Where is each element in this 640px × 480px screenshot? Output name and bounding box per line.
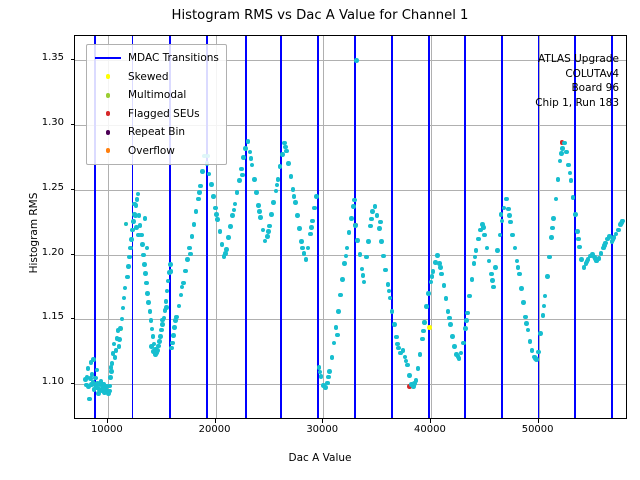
data-point	[602, 243, 607, 248]
data-point	[519, 286, 524, 291]
data-point	[220, 242, 225, 247]
data-point	[153, 352, 158, 357]
data-point	[526, 328, 531, 333]
data-point	[383, 268, 388, 273]
data-point	[616, 228, 621, 233]
data-point	[117, 344, 122, 349]
x-tick-label: 40000	[395, 424, 465, 435]
data-point	[241, 155, 246, 160]
data-point	[444, 296, 449, 301]
legend-item-skewed: Skewed	[92, 68, 219, 87]
data-point	[345, 246, 350, 251]
data-point	[521, 300, 526, 305]
data-point	[431, 269, 436, 274]
data-point	[369, 217, 374, 222]
legend-item-label: Flagged SEUs	[124, 108, 200, 120]
data-point	[368, 224, 373, 229]
legend-line-swatch-icon	[92, 57, 124, 59]
data-point	[513, 246, 518, 251]
data-point	[164, 299, 169, 304]
data-point	[173, 318, 178, 323]
data-point	[91, 357, 96, 362]
data-point	[160, 318, 165, 323]
data-point	[209, 182, 214, 187]
mdac-transition-line	[245, 36, 247, 418]
data-point	[401, 348, 406, 353]
data-point	[435, 253, 440, 258]
gridline-y	[75, 319, 626, 320]
data-point	[113, 355, 118, 360]
data-point	[330, 355, 335, 360]
x-tick	[107, 419, 108, 423]
data-point	[361, 273, 366, 278]
data-point	[177, 304, 182, 309]
mdac-transition-line	[280, 36, 282, 418]
data-point	[375, 213, 380, 218]
legend-dot-swatch-icon	[92, 74, 124, 79]
x-tick	[322, 419, 323, 423]
data-point	[366, 239, 371, 244]
gridline-y	[75, 384, 626, 385]
data-point	[215, 217, 220, 222]
data-point	[160, 322, 165, 327]
data-point	[515, 259, 520, 264]
data-point	[614, 232, 619, 237]
data-point	[438, 265, 443, 270]
data-point	[275, 183, 280, 188]
data-point	[344, 254, 349, 259]
data-point	[506, 207, 511, 212]
data-point	[237, 178, 242, 183]
data-point	[386, 282, 391, 287]
data-point	[547, 255, 552, 260]
data-point	[524, 321, 529, 326]
swatch	[106, 74, 111, 79]
data-point	[430, 274, 435, 279]
data-point	[254, 190, 259, 195]
y-tick	[71, 254, 75, 255]
data-point	[132, 202, 137, 207]
data-point	[280, 152, 285, 157]
data-point	[439, 272, 444, 277]
data-point	[481, 225, 486, 230]
data-point	[300, 246, 305, 251]
data-point	[286, 161, 291, 166]
data-point	[263, 239, 268, 244]
data-point	[558, 159, 563, 164]
data-point	[562, 141, 567, 146]
data-point	[213, 206, 218, 211]
x-tick-label: 10000	[72, 424, 142, 435]
mdac-transition-line	[464, 36, 466, 418]
data-point	[416, 366, 421, 371]
data-point	[112, 342, 117, 347]
data-point	[150, 327, 155, 332]
legend-item-flagged-seus: Flagged SEUs	[92, 105, 219, 124]
data-point	[87, 397, 92, 402]
data-point	[261, 228, 266, 233]
legend-item-multimodal: Multimodal	[92, 86, 219, 105]
data-point	[390, 309, 395, 314]
data-point	[95, 368, 100, 373]
data-point	[482, 233, 487, 238]
data-point	[291, 187, 296, 192]
legend-dot-swatch-icon	[92, 111, 124, 116]
data-point	[200, 169, 205, 174]
data-point	[335, 333, 340, 338]
data-point	[508, 220, 513, 225]
data-point	[109, 365, 114, 370]
data-point	[207, 172, 212, 177]
data-point	[117, 337, 122, 342]
data-point	[407, 373, 412, 378]
data-point	[536, 350, 541, 355]
data-point	[187, 246, 192, 251]
data-point	[473, 255, 478, 260]
legend-dot-swatch-icon	[92, 148, 124, 153]
data-point	[136, 192, 141, 197]
data-point	[271, 200, 276, 205]
data-point	[257, 209, 262, 214]
data-point	[576, 237, 581, 242]
data-point	[442, 283, 447, 288]
data-point	[381, 254, 386, 259]
data-point	[470, 277, 475, 282]
data-point	[198, 184, 203, 189]
data-point	[504, 197, 509, 202]
data-point	[446, 309, 451, 314]
data-point	[340, 277, 345, 282]
data-point	[230, 213, 235, 218]
x-tick	[538, 419, 539, 423]
data-point	[573, 212, 578, 217]
data-point	[491, 285, 496, 290]
data-point	[353, 223, 358, 228]
swatch	[95, 57, 121, 59]
data-point	[107, 389, 112, 394]
data-point	[569, 178, 574, 183]
data-point	[541, 313, 546, 318]
data-point	[243, 146, 248, 151]
data-point	[327, 369, 332, 374]
data-point	[146, 300, 151, 305]
data-point	[197, 190, 202, 195]
data-point	[265, 234, 270, 239]
data-point	[306, 246, 311, 251]
y-tick-label: 1.35	[0, 52, 64, 63]
data-point	[122, 296, 127, 301]
data-point	[456, 354, 461, 359]
run-annotation: ATLAS UpgradeCOLUTAv4Board 96Chip 1, Run…	[535, 52, 619, 110]
data-point	[125, 275, 130, 280]
data-point	[148, 309, 153, 314]
data-point	[312, 206, 317, 211]
data-point	[145, 246, 150, 251]
data-point	[308, 232, 313, 237]
data-point	[461, 341, 466, 346]
data-point	[542, 304, 547, 309]
data-point	[360, 267, 365, 272]
data-point	[551, 216, 556, 221]
data-point	[362, 280, 367, 285]
data-point	[149, 318, 154, 323]
data-point	[500, 219, 505, 224]
data-point	[131, 219, 136, 224]
data-point	[211, 194, 216, 199]
data-point	[378, 220, 383, 225]
legend-item-label: Skewed	[124, 71, 169, 83]
annotation-line: COLUTAv4	[535, 67, 619, 82]
data-point	[516, 265, 521, 270]
data-point	[487, 259, 492, 264]
data-point	[358, 252, 363, 257]
legend-item-label: MDAC Transitions	[124, 52, 219, 64]
data-point	[214, 212, 219, 217]
data-point	[141, 253, 146, 258]
swatch	[106, 148, 111, 153]
data-point	[421, 329, 426, 334]
data-point	[93, 376, 98, 381]
data-point	[170, 341, 175, 346]
data-point	[156, 344, 161, 349]
data-point	[127, 255, 132, 260]
legend: MDAC TransitionsSkewedMultimodalFlagged …	[86, 44, 227, 165]
mdac-transition-line	[428, 36, 430, 418]
data-point	[192, 222, 197, 227]
data-point	[283, 145, 288, 150]
data-point	[228, 224, 233, 229]
data-point	[129, 237, 134, 242]
data-point	[169, 269, 174, 274]
data-point	[528, 339, 533, 344]
data-point	[118, 326, 123, 331]
data-point	[256, 203, 261, 208]
data-point	[545, 274, 550, 279]
annotation-line: Chip 1, Run 183	[535, 96, 619, 111]
data-point	[143, 271, 148, 276]
data-point	[172, 325, 177, 330]
data-point	[465, 311, 470, 316]
data-point	[412, 381, 417, 386]
data-point	[171, 333, 176, 338]
data-point	[310, 219, 315, 224]
legend-item-label: Multimodal	[124, 89, 186, 101]
data-point	[424, 304, 429, 309]
x-tick-label: 30000	[287, 424, 357, 435]
data-point	[126, 264, 131, 269]
data-point	[354, 58, 359, 63]
data-point	[128, 246, 133, 251]
data-point	[136, 233, 141, 238]
data-point	[530, 348, 535, 353]
data-point	[249, 156, 254, 161]
data-point	[151, 334, 156, 339]
data-point	[194, 209, 199, 214]
data-point	[278, 164, 283, 169]
gridline-x	[323, 36, 324, 418]
data-point	[405, 363, 410, 368]
data-point	[556, 177, 561, 182]
data-point	[426, 291, 431, 296]
data-point	[577, 245, 582, 250]
data-point	[336, 309, 341, 314]
y-tick	[71, 124, 75, 125]
data-point	[158, 334, 163, 339]
data-point	[292, 194, 297, 199]
data-point	[559, 151, 564, 156]
data-point	[183, 269, 188, 274]
data-point	[120, 317, 125, 322]
data-point	[474, 248, 479, 253]
x-tick-label: 20000	[180, 424, 250, 435]
data-point	[86, 366, 91, 371]
data-point	[373, 204, 378, 209]
data-point	[476, 237, 481, 242]
data-point	[364, 255, 369, 260]
legend-item-overflow: Overflow	[92, 142, 219, 161]
data-point	[533, 356, 538, 361]
data-point	[180, 285, 185, 290]
data-point	[464, 318, 469, 323]
data-point	[554, 197, 559, 202]
data-point	[571, 195, 576, 200]
data-point	[248, 150, 253, 155]
legend-item-label: Overflow	[124, 145, 175, 157]
data-point	[190, 234, 195, 239]
data-point	[352, 198, 357, 203]
data-point	[233, 202, 238, 207]
data-point	[452, 344, 457, 349]
data-point	[246, 139, 251, 144]
data-point	[463, 326, 468, 331]
data-point	[326, 375, 331, 380]
legend-dot-swatch-icon	[92, 93, 124, 98]
data-point	[429, 280, 434, 285]
data-point	[564, 150, 569, 155]
y-tick	[71, 318, 75, 319]
data-point	[422, 320, 427, 325]
data-point	[252, 177, 257, 182]
data-point	[218, 229, 223, 234]
x-tick	[215, 419, 216, 423]
data-point	[523, 315, 528, 320]
data-point	[269, 212, 274, 217]
data-point	[347, 230, 352, 235]
data-point	[394, 335, 399, 340]
data-point	[349, 216, 354, 221]
y-axis-label: Histogram RMS	[28, 123, 40, 343]
data-point	[267, 224, 272, 229]
data-point	[121, 306, 126, 311]
mdac-transition-line	[391, 36, 393, 418]
data-point	[124, 222, 129, 227]
data-point	[295, 213, 300, 218]
data-point	[232, 208, 237, 213]
data-point	[223, 251, 228, 256]
data-point	[325, 381, 330, 386]
data-point	[355, 238, 360, 243]
annotation-line: Board 96	[535, 81, 619, 96]
data-point	[250, 163, 255, 168]
y-tick-label: 1.10	[0, 376, 64, 387]
data-point	[420, 337, 425, 342]
data-point	[585, 259, 590, 264]
data-point	[495, 248, 500, 253]
mdac-transition-line	[317, 36, 319, 418]
y-tick	[71, 383, 75, 384]
data-point	[490, 278, 495, 283]
data-point	[377, 226, 382, 231]
data-point	[309, 225, 314, 230]
data-point	[575, 229, 580, 234]
data-point	[168, 262, 173, 267]
mdac-transition-line	[501, 36, 503, 418]
data-point	[108, 375, 113, 380]
data-point	[334, 325, 339, 330]
swatch	[106, 111, 111, 116]
data-point	[302, 251, 307, 256]
data-point	[472, 261, 477, 266]
data-point	[611, 237, 616, 242]
data-point	[499, 212, 504, 217]
data-point	[134, 225, 139, 230]
data-point	[332, 341, 337, 346]
data-point	[538, 331, 543, 336]
data-point	[159, 328, 164, 333]
data-point	[379, 239, 384, 244]
data-point	[299, 239, 304, 244]
data-point	[169, 346, 174, 351]
data-point	[549, 235, 554, 240]
data-point	[467, 294, 472, 299]
data-point	[566, 163, 571, 168]
data-point	[274, 189, 279, 194]
data-point	[179, 293, 184, 298]
data-point	[140, 242, 145, 247]
data-point	[550, 226, 555, 231]
data-point	[323, 385, 328, 390]
data-point	[276, 177, 281, 182]
data-point	[289, 174, 294, 179]
data-point	[133, 213, 138, 218]
data-point	[297, 226, 302, 231]
data-point	[258, 215, 263, 220]
legend-item-label: Repeat Bin	[124, 126, 185, 138]
swatch	[106, 130, 111, 135]
data-point	[123, 286, 128, 291]
data-point	[145, 291, 150, 296]
data-point	[314, 194, 319, 199]
figure: Histogram RMS vs Dac A Value for Channel…	[0, 0, 640, 480]
data-point	[235, 190, 240, 195]
data-point	[240, 173, 245, 178]
data-point	[342, 261, 347, 266]
data-point	[266, 229, 271, 234]
data-point	[157, 339, 162, 344]
data-point	[599, 251, 604, 256]
data-point	[493, 265, 498, 270]
x-tick	[430, 419, 431, 423]
x-tick-label: 50000	[503, 424, 573, 435]
data-point	[485, 246, 490, 251]
data-point	[143, 216, 148, 221]
data-point	[239, 167, 244, 172]
data-point	[507, 213, 512, 218]
swatch	[106, 93, 111, 98]
annotation-line: ATLAS Upgrade	[535, 52, 619, 67]
data-point	[448, 322, 453, 327]
data-point	[543, 294, 548, 299]
